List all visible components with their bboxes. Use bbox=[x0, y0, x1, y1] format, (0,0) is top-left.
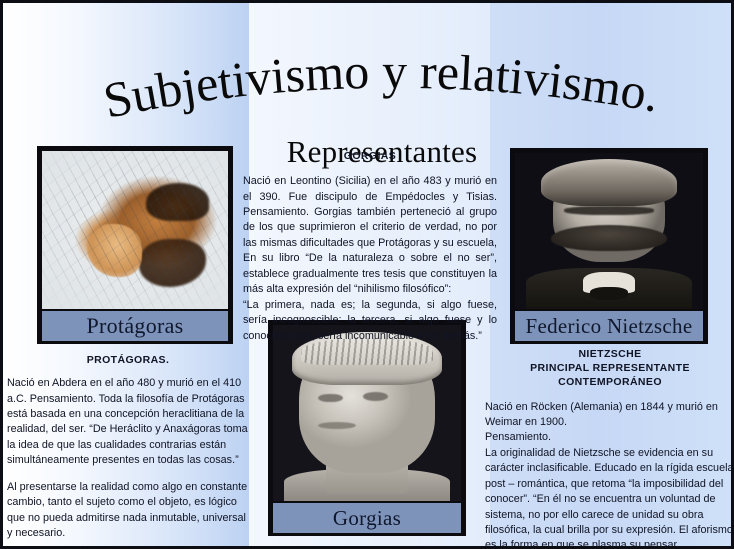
protagoras-paragraph-1: Nació en Abdera en el año 480 y murió en… bbox=[7, 376, 249, 469]
text-block-nietzsche: NIETZSCHE PRINCIPAL REPRESENTANTE CONTEM… bbox=[485, 347, 734, 549]
protagoras-caption: Protágoras bbox=[42, 309, 228, 341]
nietzsche-paragraph-3: La originalidad de Nietzsche se evidenci… bbox=[485, 446, 734, 549]
gorgias-text-heading: GORGIAS bbox=[243, 149, 497, 163]
nietzsche-caption: Federico Nietzsche bbox=[515, 309, 703, 341]
protagoras-portrait-image bbox=[42, 151, 228, 309]
nietzsche-moustache-shape bbox=[551, 225, 668, 252]
gorgias-paragraph-2: “La primera, nada es; la segunda, si alg… bbox=[243, 298, 497, 344]
gorgias-paragraph-1: Nació en Leontino (Sicilia) en el año 48… bbox=[243, 174, 497, 298]
protagoras-paragraph-2: Al presentarse la realidad como algo en … bbox=[7, 480, 249, 542]
protagoras-sketch-hatching bbox=[42, 151, 228, 309]
nietzsche-heading-line-1: NIETZSCHE bbox=[578, 348, 641, 360]
nietzsche-portrait-image bbox=[515, 153, 703, 309]
nietzsche-heading-line-2: PRINCIPAL REPRESENTANTE CONTEMPORÁNEO bbox=[530, 362, 690, 388]
panel-gorgias[interactable]: Gorgias bbox=[269, 321, 465, 535]
protagoras-text-heading: PROTÁGORAS. bbox=[7, 353, 249, 367]
panel-protagoras[interactable]: Protágoras bbox=[38, 147, 232, 343]
nietzsche-hair-shape bbox=[541, 159, 676, 206]
nietzsche-paragraph-1: Nació en Röcken (Alemania) en 1844 y mur… bbox=[485, 400, 734, 431]
gorgias-mouth-shape bbox=[318, 422, 356, 429]
nietzsche-paragraph-2: Pensamiento. bbox=[485, 430, 734, 445]
gorgias-caption: Gorgias bbox=[273, 501, 461, 533]
nietzsche-brow-shape bbox=[564, 206, 654, 215]
gorgias-eye-left bbox=[318, 394, 342, 403]
slide-canvas: Subjetivismo y relativismo. Representant… bbox=[0, 0, 734, 549]
gorgias-bust-image bbox=[273, 325, 461, 501]
text-block-protagoras: PROTÁGORAS. Nació en Abdera en el año 48… bbox=[7, 353, 249, 542]
panel-nietzsche[interactable]: Federico Nietzsche bbox=[511, 149, 707, 343]
gorgias-eye-right bbox=[363, 392, 387, 401]
nietzsche-bowtie-shape bbox=[590, 287, 628, 299]
nietzsche-text-heading: NIETZSCHE PRINCIPAL REPRESENTANTE CONTEM… bbox=[485, 347, 734, 390]
text-block-gorgias: GORGIAS Nació en Leontino (Sicilia) en e… bbox=[243, 149, 497, 344]
